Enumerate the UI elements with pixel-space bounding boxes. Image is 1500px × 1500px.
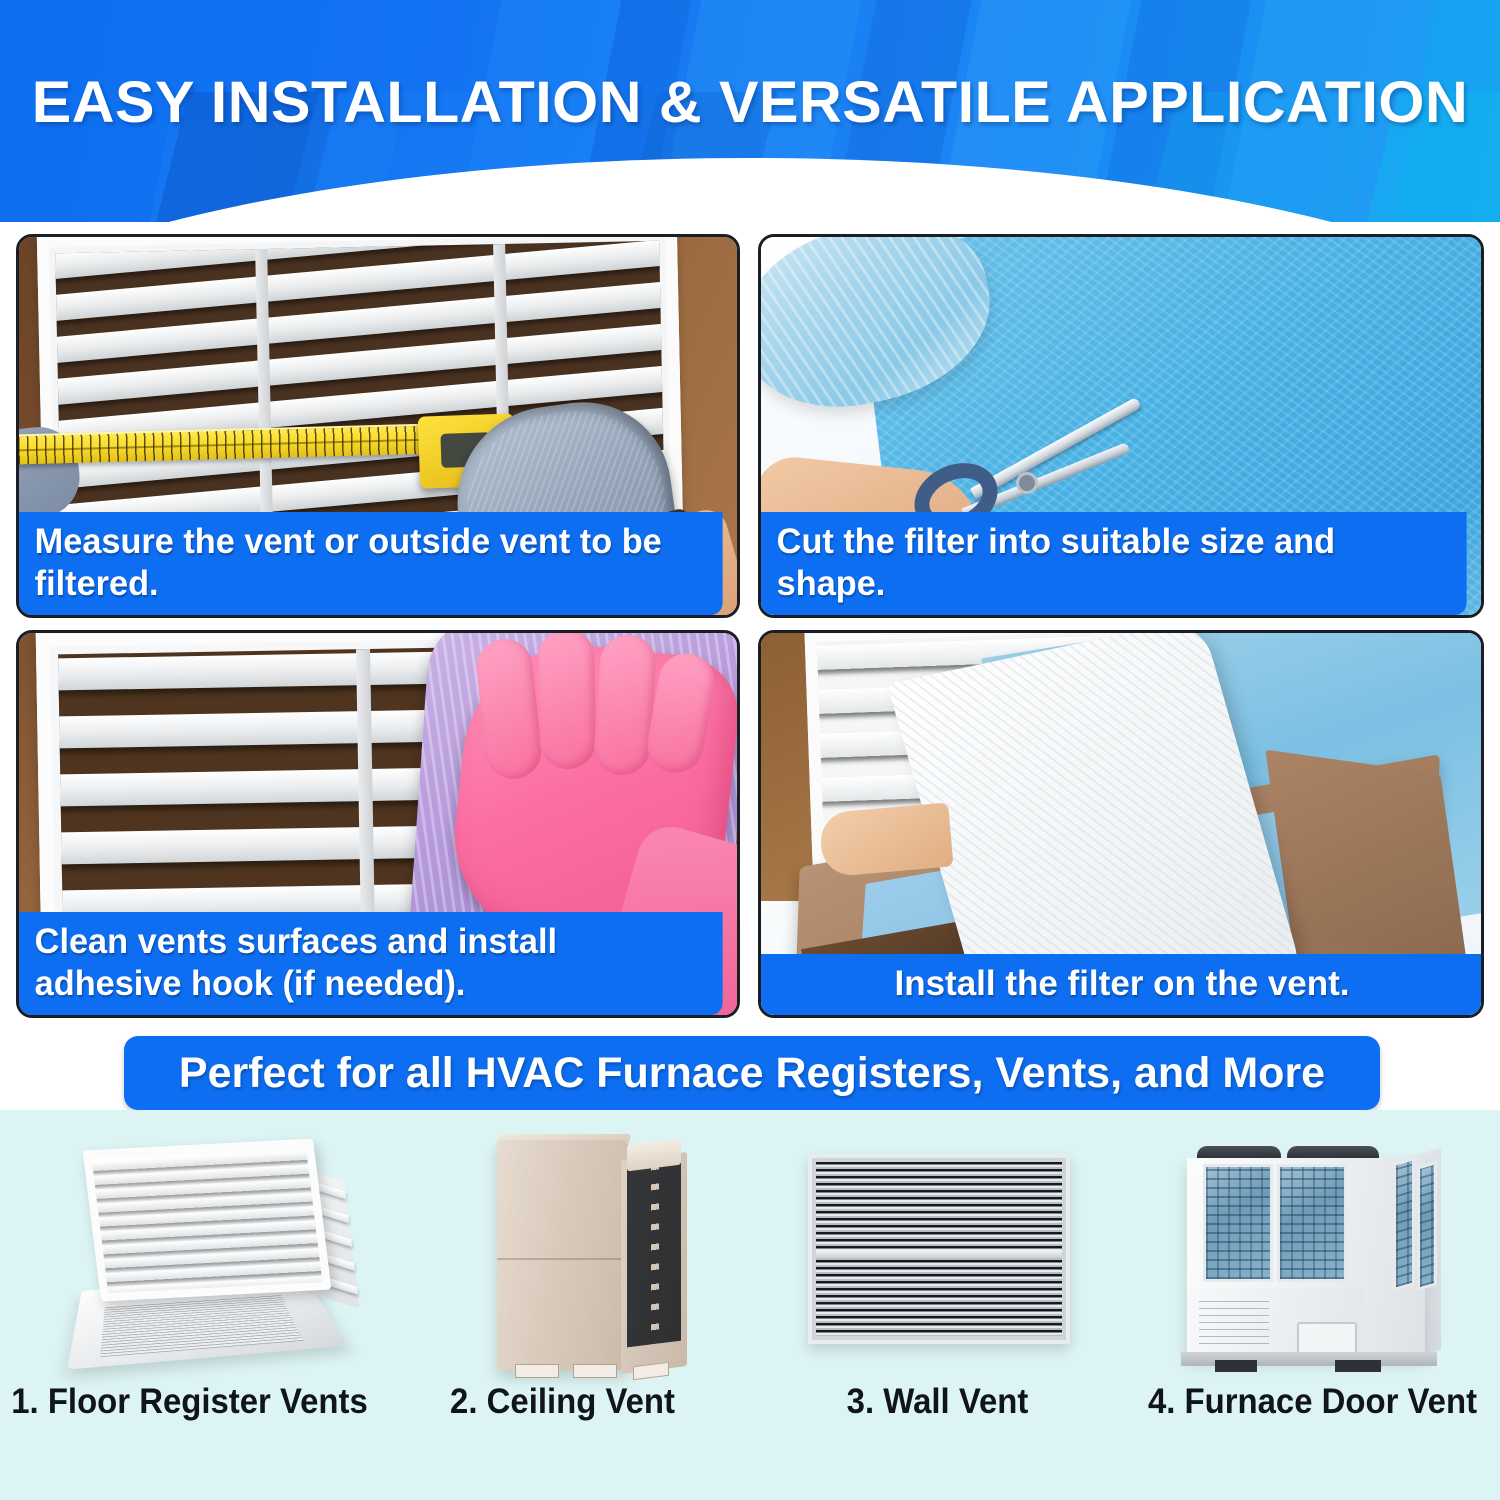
hand	[818, 802, 953, 877]
product-item-wall-vent: 3. Wall Vent	[750, 1110, 1125, 1500]
wall-vent-slats	[816, 1162, 1062, 1336]
furnace-door-vent-illustration	[1125, 1116, 1500, 1378]
unit-foot	[515, 1364, 559, 1378]
open-louvered-panel	[83, 1139, 332, 1302]
product-label-4: 4. Furnace Door Vent	[1136, 1382, 1489, 1422]
unit-body	[497, 1140, 629, 1370]
product-label-2: 2. Ceiling Vent	[386, 1382, 739, 1422]
unit-foot	[573, 1364, 617, 1378]
step-1-caption: Measure the vent or outside vent to be f…	[19, 512, 723, 615]
product-item-floor-register-vents: 1. Floor Register Vents	[0, 1110, 375, 1500]
step-3-caption: Clean vents surfaces and install adhesiv…	[19, 912, 723, 1015]
product-item-furnace-door-vent: 4. Furnace Door Vent	[1125, 1110, 1500, 1500]
unit-foot	[1335, 1360, 1381, 1372]
coil-grille	[1203, 1164, 1273, 1282]
unit-foot	[1215, 1360, 1257, 1372]
ceiling-vent-illustration	[375, 1116, 750, 1378]
wall-vent-illustration	[750, 1116, 1125, 1378]
infographic-page: EASY INSTALLATION & VERSATILE APPLICATIO…	[0, 0, 1500, 1500]
floor-register-vent-illustration	[0, 1116, 375, 1378]
coil-grille	[1277, 1164, 1347, 1282]
wall-vent-divider	[816, 1250, 1062, 1258]
step-card-2: Cut the filter into suitable size and sh…	[758, 234, 1484, 618]
register-side-flange	[1265, 750, 1467, 963]
step-2-caption: Cut the filter into suitable size and sh…	[761, 512, 1467, 615]
steps-grid: Measure the vent or outside vent to be f…	[16, 234, 1484, 1018]
step-4-caption: Install the filter on the vent.	[761, 954, 1481, 1015]
step-card-1: Measure the vent or outside vent to be f…	[16, 234, 740, 618]
step-card-4: Install the filter on the vent.	[758, 630, 1484, 1018]
unit-side-grille	[621, 1152, 687, 1374]
coil-grille	[1417, 1161, 1437, 1291]
coil-grille	[1393, 1157, 1415, 1291]
scissors-pivot	[1019, 475, 1035, 491]
glove-finger	[538, 633, 596, 769]
step-card-3: Clean vents surfaces and install adhesiv…	[16, 630, 740, 1018]
product-label-1: 1. Floor Register Vents	[11, 1382, 364, 1422]
glove-finger	[592, 633, 658, 777]
product-types-section: 1. Floor Register Vents 2. Ceiling Vent	[0, 1110, 1500, 1500]
hvac-compatibility-banner: Perfect for all HVAC Furnace Registers, …	[124, 1036, 1380, 1110]
page-title: EASY INSTALLATION & VERSATILE APPLICATIO…	[0, 74, 1500, 132]
product-item-ceiling-vent: 2. Ceiling Vent	[375, 1110, 750, 1500]
header-banner: EASY INSTALLATION & VERSATILE APPLICATIO…	[0, 0, 1500, 222]
unit-access-hatch	[1297, 1322, 1357, 1356]
product-label-3: 3. Wall Vent	[761, 1382, 1114, 1422]
unit-foot	[633, 1362, 669, 1380]
wall-vent-frame	[808, 1154, 1070, 1344]
